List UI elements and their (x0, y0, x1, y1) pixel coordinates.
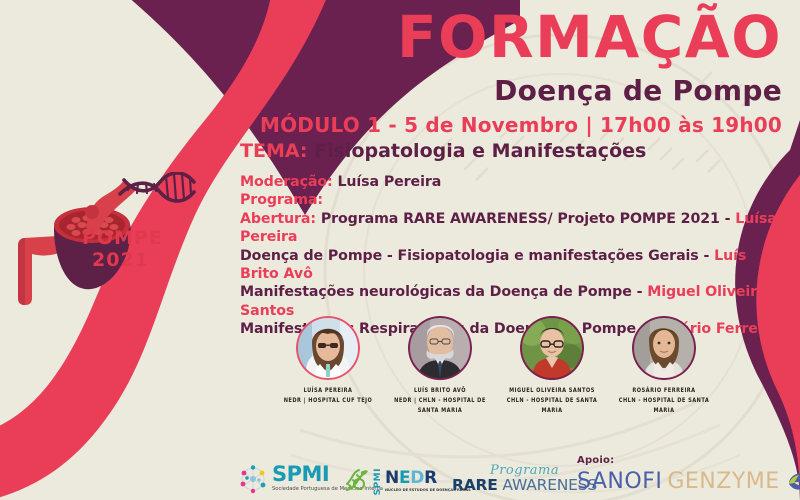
sanofi-bird-icon (785, 470, 800, 494)
talk-line: Manifestações neurológicas da Doença de … (240, 283, 788, 320)
speaker-card: ROSÁRIO FERREIRA CHLN - HOSPITAL DE SANT… (608, 316, 720, 416)
footer-logos: SPMI Sociedade Portuguesa de Medicina In… (0, 440, 800, 500)
avatar (408, 316, 472, 380)
pompe-wordmark-year: 2021 (92, 250, 163, 272)
nedr-spmi-vertical: SPMI (373, 468, 383, 495)
avatar (296, 316, 360, 380)
speaker-caption: MIGUEL OLIVEIRA SANTOS CHLN - HOSPITAL D… (503, 386, 602, 416)
module-datetime: MÓDULO 1 - 5 de Novembro | 17h00 às 19h0… (162, 113, 782, 137)
theme-line: TEMA: Fisiopatologia e Manifestações (240, 140, 788, 164)
poster-canvas: POMPE 2021 FORMAÇÃO Doença de Pompe MÓDU… (0, 0, 800, 500)
avatar-ring (520, 316, 584, 380)
programme-label: Programa: (240, 191, 788, 209)
avatar-ring (632, 316, 696, 380)
speaker-name: ROSÁRIO FERREIRA (615, 386, 714, 396)
speaker-caption: ROSÁRIO FERREIRA CHLN - HOSPITAL DE SANT… (615, 386, 714, 416)
rare-wordmark: RARE AWARENESS (452, 477, 597, 494)
speaker-card: LUÍSA PEREIRA NEDR | HOSPITAL CUF TEJO (272, 316, 384, 406)
page-title: FORMAÇÃO (162, 8, 782, 66)
theme-value: Fisiopatologia e Manifestações (308, 140, 647, 162)
avatar-ring (296, 316, 360, 380)
spmi-molecule-icon (238, 464, 268, 494)
pompe-wordmark-name: POMPE (82, 227, 163, 249)
genzyme-word: GENZYME (667, 471, 779, 493)
speaker-name: LUÍS BRITO AVÔ (391, 386, 490, 396)
speakers-row: LUÍSA PEREIRA NEDR | HOSPITAL CUF TEJO (272, 316, 692, 446)
page-subtitle: Doença de Pompe (162, 74, 782, 107)
opening-value: Programa RARE AWARENESS/ Projeto POMPE 2… (316, 211, 735, 227)
theme-label: TEMA: (240, 140, 308, 162)
speaker-affiliation: CHLN - HOSPITAL DE SANTA MARIA (615, 396, 714, 416)
logo-sanofi-genzyme: SANOFI GENZYME (577, 470, 800, 494)
speaker-affiliation: CHLN - HOSPITAL DE SANTA MARIA (503, 396, 602, 416)
avatar (520, 316, 584, 380)
moderation-label: Moderação: (240, 174, 333, 190)
speaker-name: LUÍSA PEREIRA (279, 386, 378, 396)
speaker-card: LUÍS BRITO AVÔ NEDR | CHLN - HOSPITAL DE… (384, 316, 496, 416)
sanofi-word: SANOFI (577, 471, 662, 493)
opening-label: Abertura: (240, 211, 316, 227)
speaker-name: MIGUEL OLIVEIRA SANTOS (503, 386, 602, 396)
moderation-value: Luísa Pereira (333, 174, 442, 190)
apoio-label: Apoio: (577, 455, 614, 466)
speaker-caption: LUÍSA PEREIRA NEDR | HOSPITAL CUF TEJO (279, 386, 378, 406)
pompe-2021-wordmark: POMPE 2021 (82, 228, 163, 272)
moderation-line: Moderação: Luísa Pereira (240, 173, 788, 191)
avatar-ring (408, 316, 472, 380)
speaker-caption: LUÍS BRITO AVÔ NEDR | CHLN - HOSPITAL DE… (391, 386, 490, 416)
rare-bold: RARE (452, 476, 498, 494)
speaker-card: MIGUEL OLIVEIRA SANTOS CHLN - HOSPITAL D… (496, 316, 608, 416)
programme-block: TEMA: Fisiopatologia e Manifestações Mod… (240, 140, 788, 339)
speaker-affiliation: NEDR | HOSPITAL CUF TEJO (279, 396, 378, 406)
speaker-affiliation: NEDR | CHLN - HOSPITAL DE SANTA MARIA (391, 396, 490, 416)
logo-rare-awareness: Programa RARE AWARENESS (452, 464, 597, 494)
nedr-dna-leaf-icon (345, 468, 371, 494)
talk-line: Doença de Pompe - Fisiopatologia e manif… (240, 247, 788, 284)
talk-title: Manifestações neurológicas da Doença de … (240, 284, 647, 300)
talk-title: Doença de Pompe - Fisiopatologia e manif… (240, 248, 714, 264)
headline-block: FORMAÇÃO Doença de Pompe MÓDULO 1 - 5 de… (162, 8, 782, 137)
opening-line: Abertura: Programa RARE AWARENESS/ Proje… (240, 210, 788, 247)
avatar (632, 316, 696, 380)
